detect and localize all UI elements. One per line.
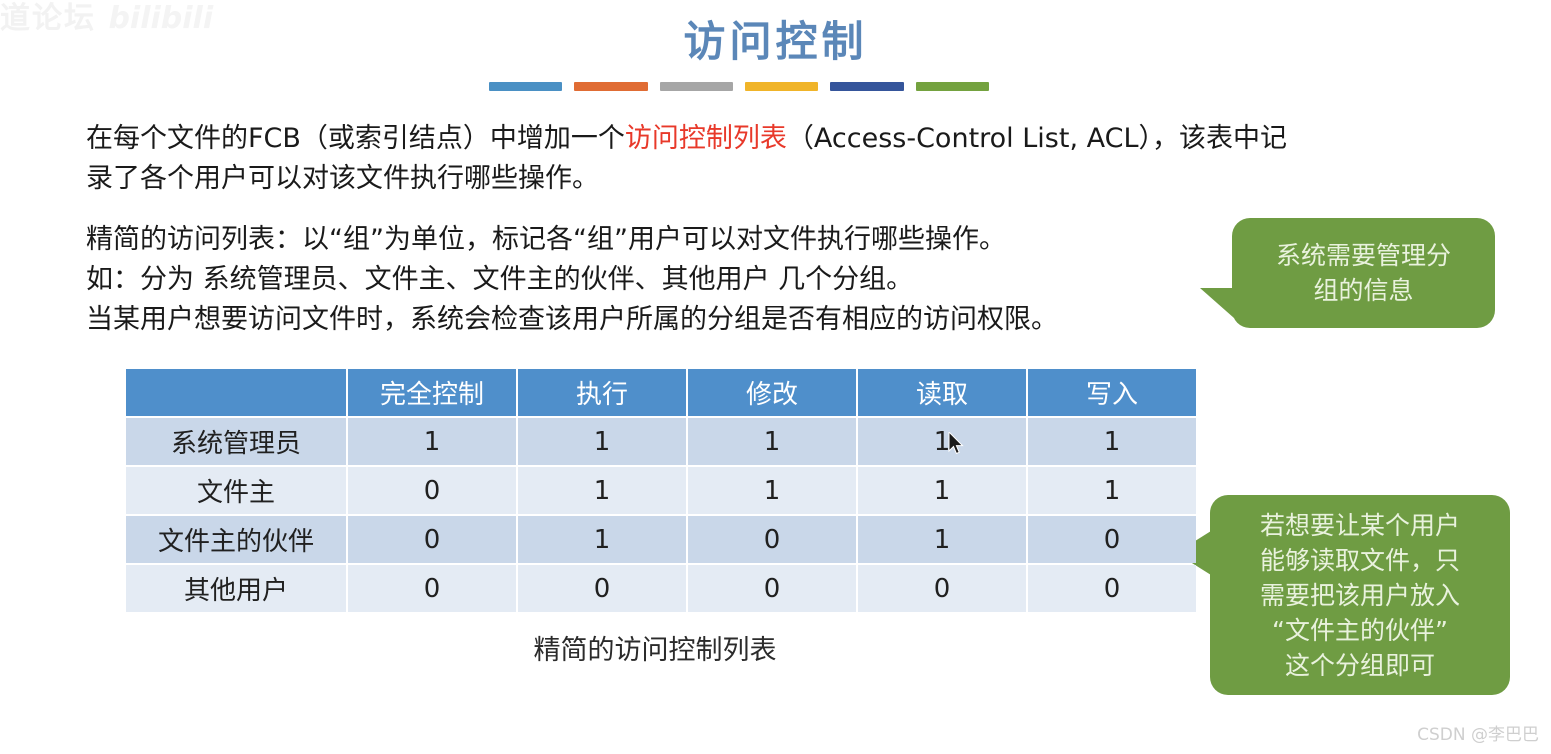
table-row: 文件主 0 1 1 1 1 [126, 467, 1196, 514]
cell-owner-group-read: 1 [858, 516, 1026, 563]
cell-others-modify: 0 [688, 565, 856, 612]
cell-others-full-control: 0 [348, 565, 516, 612]
cell-owner-execute: 1 [518, 467, 686, 514]
paragraph1-highlight-acl: 访问控制列表 [625, 123, 787, 154]
title-rule-4 [745, 82, 818, 91]
acl-table-header: 完全控制 执行 修改 读取 写入 [126, 369, 1196, 416]
row-label-others: 其他用户 [126, 565, 346, 612]
column-header-modify: 修改 [688, 369, 856, 416]
title-rule-2 [574, 82, 647, 91]
cell-admin-full-control: 1 [348, 418, 516, 465]
cell-admin-read: 1 [858, 418, 1026, 465]
cell-owner-group-modify: 0 [688, 516, 856, 563]
column-header-full-control: 完全控制 [348, 369, 516, 416]
title-rule-1 [489, 82, 562, 91]
title-rule-3 [660, 82, 733, 91]
column-header-read: 读取 [858, 369, 1026, 416]
cell-admin-write: 1 [1028, 418, 1196, 465]
row-label-owner: 文件主 [126, 467, 346, 514]
title-rule-5 [830, 82, 903, 91]
acl-table-body: 系统管理员 1 1 1 1 1 文件主 0 1 1 1 1 文件主的伙伴 0 1… [126, 418, 1196, 612]
paragraph-simplified-acl: 精简的访问列表：以“组”为单位，标记各“组”用户可以对文件执行哪些操作。 如：分… [86, 220, 1216, 340]
cell-admin-execute: 1 [518, 418, 686, 465]
row-label-owner-group: 文件主的伙伴 [126, 516, 346, 563]
cell-others-read: 0 [858, 565, 1026, 612]
page-title: 访问控制 [0, 16, 1551, 68]
title-underline-rules [489, 82, 989, 91]
cell-others-execute: 0 [518, 565, 686, 612]
callout-group-info: 系统需要管理分 组的信息 [1232, 218, 1495, 328]
cell-owner-group-write: 0 [1028, 516, 1196, 563]
callout-read-permission: 若想要让某个用户 能够读取文件，只 需要把该用户放入 “文件主的伙伴” 这个分组… [1210, 495, 1510, 695]
table-row: 其他用户 0 0 0 0 0 [126, 565, 1196, 612]
cell-owner-group-execute: 1 [518, 516, 686, 563]
cell-owner-modify: 1 [688, 467, 856, 514]
callout-group-info-text: 系统需要管理分 组的信息 [1276, 238, 1451, 308]
cell-admin-modify: 1 [688, 418, 856, 465]
cell-owner-read: 1 [858, 467, 1026, 514]
cell-owner-full-control: 0 [348, 467, 516, 514]
table-corner-cell [126, 369, 346, 416]
table-row: 文件主的伙伴 0 1 0 1 0 [126, 516, 1196, 563]
callout-read-permission-text: 若想要让某个用户 能够读取文件，只 需要把该用户放入 “文件主的伙伴” 这个分组… [1260, 508, 1460, 683]
title-rule-6 [916, 82, 989, 91]
table-row: 系统管理员 1 1 1 1 1 [126, 418, 1196, 465]
column-header-write: 写入 [1028, 369, 1196, 416]
cell-others-write: 0 [1028, 565, 1196, 612]
slide-canvas: 道论坛 bilibili 访问控制 在每个文件的FCB（或索引结点）中增加一个访… [0, 0, 1551, 754]
table-header-row: 完全控制 执行 修改 读取 写入 [126, 369, 1196, 416]
callout-group-info-tail [1200, 288, 1234, 318]
watermark-csdn: CSDN @李巴巴 [1417, 724, 1539, 746]
paragraph-acl-definition: 在每个文件的FCB（或索引结点）中增加一个访问控制列表（Access-Contr… [86, 119, 1416, 199]
row-label-admin: 系统管理员 [126, 418, 346, 465]
column-header-execute: 执行 [518, 369, 686, 416]
cell-owner-write: 1 [1028, 467, 1196, 514]
table-caption: 精简的访问控制列表 [124, 628, 1186, 667]
paragraph1-before-highlight: 在每个文件的FCB（或索引结点）中增加一个 [86, 123, 625, 154]
cell-owner-group-full-control: 0 [348, 516, 516, 563]
acl-table: 完全控制 执行 修改 读取 写入 系统管理员 1 1 1 1 1 文件主 0 1… [124, 367, 1198, 614]
